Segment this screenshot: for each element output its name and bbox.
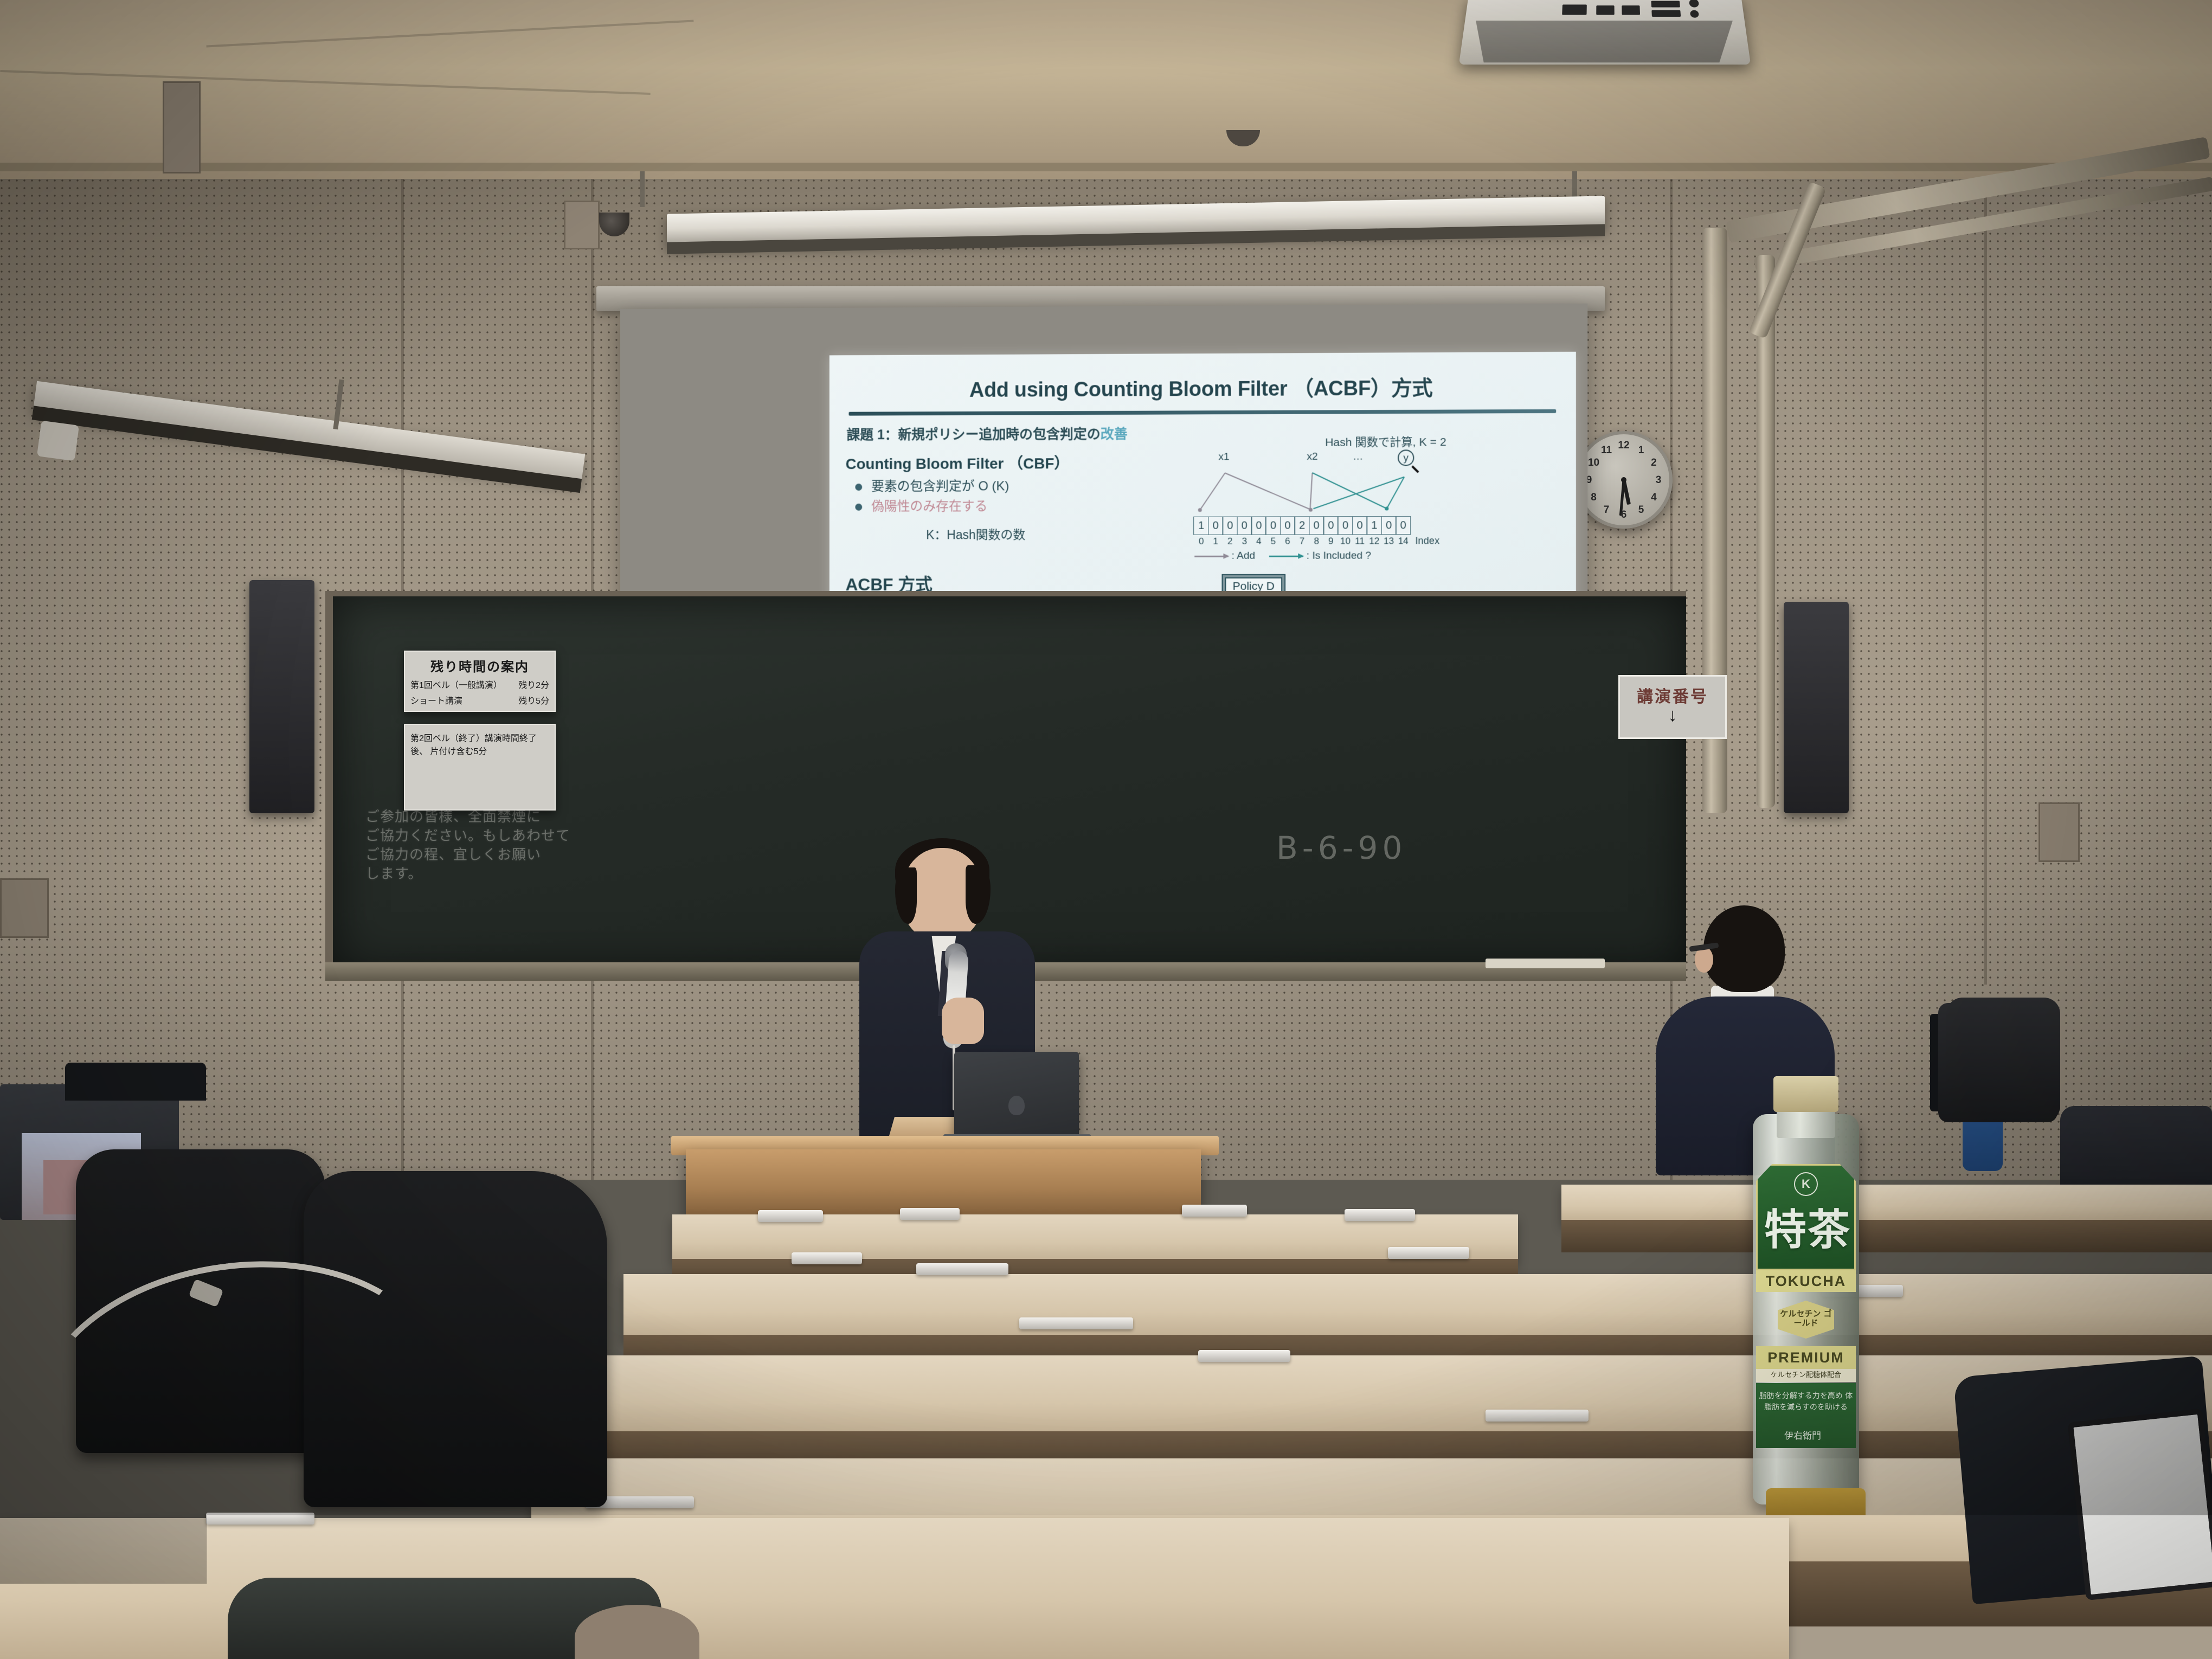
cbf-cell: 0 (1381, 516, 1396, 535)
cbf-index-cell: 13 (1381, 536, 1396, 546)
wall-speaker (249, 580, 314, 813)
desk-row (623, 1274, 2212, 1339)
cbf-index-cell: 0 (1194, 536, 1209, 547)
desk-bracket (1198, 1350, 1290, 1362)
cbf-index-cell: 5 (1265, 536, 1281, 547)
bottle-neck (1777, 1110, 1835, 1138)
legend-included-label: : Is Included ? (1307, 550, 1371, 562)
presenter-hair-side (895, 867, 917, 924)
eraser (1486, 959, 1605, 968)
cbf-index-cell: 2 (1223, 536, 1238, 547)
timer-row: ショート講演 残り5分 (410, 693, 549, 706)
magnifier-icon: y (1398, 449, 1414, 466)
clock-numeral: 11 (1600, 445, 1613, 456)
timer-row: 第1回ベル（一般講演） 残り2分 (410, 678, 549, 691)
cbf-index-cell: 14 (1396, 536, 1411, 546)
label-hex-badge: ケルセチン ゴールド (1778, 1301, 1834, 1339)
chalk-talk-code: B-6-90 (1276, 829, 1406, 866)
timer-sign-secondary: 第2回ベル（終了）講演時間終了後、 片付け含む5分 (404, 724, 556, 811)
cbf-index-cell: 7 (1294, 536, 1309, 547)
timer-sign: 残り時間の案内 第1回ベル（一般講演） 残り2分 ショート講演 残り5分 (404, 651, 556, 712)
slide-title: Add using Counting Bloom Filter （ACBF）方式 (844, 370, 1562, 403)
ceiling (0, 0, 2212, 179)
wall-panel (0, 878, 49, 938)
clock-numeral: 7 (1600, 504, 1613, 516)
talk-number-title: 講演番号 (1620, 683, 1725, 707)
light-hanger (640, 171, 645, 207)
legend-add-label: : Add (1232, 550, 1256, 562)
clock-numeral: 10 (1587, 457, 1600, 469)
cbf-index-cell: 8 (1309, 536, 1324, 547)
clock-numeral: 4 (1647, 492, 1660, 504)
tea-bottle: SUNTORY K 特茶 TOKUCHA ケルセチン ゴールド PREMIUM … (1743, 1076, 1868, 1510)
desk-bracket (916, 1263, 1008, 1275)
x2-label: x2 (1307, 451, 1317, 463)
light-end-cap (37, 421, 79, 461)
desk-bracket (1345, 1209, 1415, 1221)
bottle-liquid (1766, 1488, 1866, 1540)
wall-panel (163, 81, 201, 173)
desk-bracket (1182, 1205, 1247, 1217)
wall-speaker (1784, 602, 1849, 813)
label-green-panel: K 特茶 (1756, 1164, 1856, 1270)
timer-row-value: 残り5分 (518, 693, 549, 706)
audience-head (1703, 905, 1785, 992)
timer-row-label: 第1回ベル（一般講演） (410, 678, 502, 691)
vertical-pipe (1757, 255, 1775, 808)
cbf-cell: 0 (1208, 517, 1223, 535)
index-axis-label: Index (1415, 535, 1439, 546)
list-item: 偽陽性のみ存在する (853, 497, 1186, 516)
cbf-cell: 0 (1251, 517, 1266, 535)
clock-numeral: 6 (1617, 509, 1630, 521)
cbf-cell: 0 (1352, 516, 1367, 535)
cbf-cell: 2 (1294, 516, 1309, 535)
desk-bracket (206, 1513, 314, 1525)
timer-row-value: 残り2分 (518, 678, 549, 691)
cbf-cell: 0 (1223, 517, 1238, 535)
ceiling-seam (0, 163, 2212, 171)
subtitle-accent: 改善 (1101, 427, 1128, 442)
clock-numeral: 8 (1587, 492, 1600, 504)
label-romaji: TOKUCHA (1756, 1270, 1856, 1292)
cbf-index-row: 01234567891011121314 (1194, 536, 1411, 547)
desk-bracket (1019, 1317, 1133, 1329)
label-seal-icon: K (1794, 1172, 1818, 1196)
wall-panel (2039, 802, 2080, 862)
cbf-cell: 1 (1367, 516, 1382, 535)
bottle-label: K 特茶 TOKUCHA ケルセチン ゴールド PREMIUM ケルセチン配糖体… (1753, 1164, 1859, 1446)
desk-bracket (792, 1252, 862, 1264)
timer-row-label: ショート講演 (410, 693, 462, 706)
label-maker: 伊右衛門 (1753, 1428, 1853, 1442)
desk-front (1561, 1220, 2212, 1252)
cbf-cell: 0 (1396, 516, 1411, 535)
presenter-hand (942, 998, 984, 1044)
label-subtext: ケルセチン配糖体配合 (1756, 1369, 1856, 1382)
down-arrow-icon: ↓ (1620, 707, 1725, 724)
clock-numeral: 12 (1617, 440, 1630, 452)
desk-bracket (758, 1210, 823, 1222)
legend-add: : Add (1194, 550, 1255, 562)
hash-mapping-arrows (1194, 469, 1435, 516)
clock-numeral: 1 (1635, 445, 1648, 456)
desk-bracket (900, 1208, 960, 1220)
timer-sign-title: 残り時間の案内 (410, 656, 549, 675)
cbf-index-cell: 4 (1251, 536, 1266, 547)
monitor-back (65, 1063, 206, 1101)
tablet-device (2067, 1409, 2212, 1600)
wall-clock: 121234567891011 (1575, 431, 1673, 529)
legend-included: : Is Included ? (1269, 550, 1371, 562)
diagram-legend: : Add : Is Included ? (1194, 550, 1576, 562)
cbf-bullets: 要素の包含判定が O (K) 偽陽性のみ存在する (853, 477, 1186, 516)
title-rule (848, 409, 1556, 416)
cbf-index-cell: 6 (1280, 536, 1295, 547)
desk-row (1561, 1185, 2212, 1223)
cbf-cell: 0 (1237, 517, 1252, 535)
desk-bracket (1486, 1410, 1589, 1422)
talk-number-sign: 講演番号 ↓ (1618, 675, 1727, 739)
cbf-counter-array: 100000020000100 (1194, 516, 1576, 535)
cbf-index-cell: 9 (1323, 536, 1339, 546)
cbf-index-cell: 11 (1352, 536, 1367, 546)
presenter-laptop (954, 1052, 1079, 1136)
chair-back-right (1946, 998, 2060, 1122)
cbf-index-cell: 10 (1338, 536, 1353, 546)
cbf-cell: 0 (1309, 516, 1324, 535)
cbf-cell: 0 (1338, 516, 1353, 535)
desk-bracket (1388, 1247, 1469, 1259)
list-item: 要素の包含判定が O (K) (853, 477, 1186, 496)
label-kanji: 特茶 (1758, 1196, 1857, 1257)
hash-input-labels: x1 x2 … y (1194, 450, 1576, 470)
apple-logo-icon (1008, 1096, 1025, 1115)
presenter-hair-side (966, 865, 991, 924)
cbf-cell: 0 (1280, 516, 1295, 535)
chalk-text: ご参加の皆様、全面禁煙に ご協力ください。もしあわせて ご協力の程、宜しくお願い… (365, 808, 570, 884)
clock-numeral: 2 (1647, 457, 1660, 469)
cbf-cell: 0 (1265, 516, 1281, 535)
cbf-index-cell: 12 (1367, 536, 1382, 546)
x1-label: x1 (1218, 451, 1229, 463)
cbf-index-cell: 1 (1208, 536, 1223, 547)
bottle-cap (1773, 1076, 1838, 1112)
k-definition-note: K：Hash関数の数 (926, 524, 1186, 543)
cbf-cell: 0 (1323, 516, 1339, 535)
timer-sign-note: 第2回ベル（終了）講演時間終了後、 片付け含む5分 (410, 731, 549, 757)
cbf-index-cell: 3 (1237, 536, 1252, 547)
clock-numeral: 5 (1635, 504, 1648, 516)
label-premium: PREMIUM (1756, 1346, 1856, 1369)
cbf-cell: 1 (1194, 517, 1209, 535)
ceiling-projector (1459, 0, 1751, 65)
hash-header: Hash 関数で計算, K = 2 (1194, 433, 1576, 450)
clock-numeral: 3 (1652, 474, 1665, 486)
cbf-heading: Counting Bloom Filter （CBF） (846, 452, 1186, 474)
ellipsis-label: … (1353, 451, 1363, 463)
wall-panel (564, 201, 600, 249)
lecture-hall-photo: 121234567891011 Add using Counting Bloom… (0, 0, 2212, 1659)
